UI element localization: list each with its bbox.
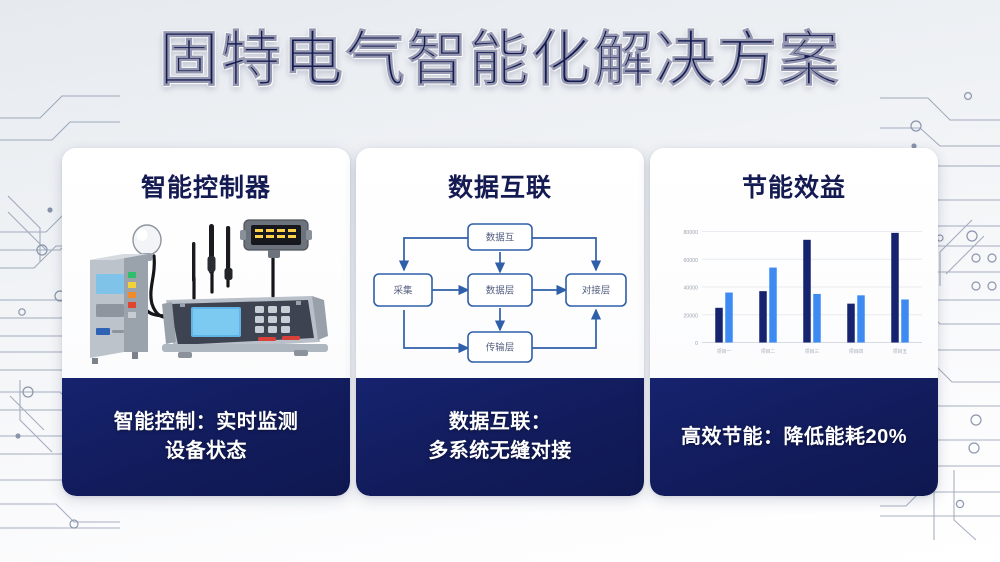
card-2-caption-line1: 数据互联： xyxy=(449,411,552,433)
card-intelligent-controller[interactable]: 智能控制器 xyxy=(62,148,350,496)
chart-bar xyxy=(857,295,865,342)
flow-node-bottom-label: 传输层 xyxy=(486,342,515,354)
data-flow-diagram: 数据互 采集 数据层 对接层 传输层 xyxy=(356,210,644,374)
card-1-caption: 智能控制：实时监测 设备状态 xyxy=(62,378,350,496)
chart-x-tick: 项目一 xyxy=(717,349,731,355)
card-data-interconnect[interactable]: 数据互联 xyxy=(356,148,644,496)
card-2-caption-text: 数据互联： 多系统无缝对接 xyxy=(428,408,572,466)
chart-y-tick: 60000 xyxy=(684,258,698,264)
card-3-caption-line1: 高效节能：降低能耗20% xyxy=(681,426,907,448)
chart-y-tick: 80000 xyxy=(684,230,698,236)
card-3-top: 节能效益 020000400006000080000项目一项目二项目三项目四项目… xyxy=(650,148,938,378)
card-3-title: 节能效益 xyxy=(742,168,846,204)
card-1-title: 智能控制器 xyxy=(141,168,271,204)
chart-y-tick: 40000 xyxy=(684,286,698,292)
card-1-caption-line2: 设备状态 xyxy=(114,437,299,466)
chart-x-tick: 项目四 xyxy=(849,349,863,355)
card-2-top: 数据互联 xyxy=(356,148,644,378)
card-1-caption-text: 智能控制：实时监测 设备状态 xyxy=(114,408,299,466)
chart-bar xyxy=(715,308,723,343)
chart-bar xyxy=(769,268,777,343)
card-2-title: 数据互联 xyxy=(448,168,552,204)
chart-bar xyxy=(803,240,811,343)
chart-x-tick: 项目三 xyxy=(805,349,819,355)
chart-x-tick: 项目二 xyxy=(761,349,775,355)
card-2-caption: 数据互联： 多系统无缝对接 xyxy=(356,378,644,496)
energy-bar-chart: 020000400006000080000项目一项目二项目三项目四项目五 xyxy=(664,214,928,372)
card-2-visual: 数据互 采集 数据层 对接层 传输层 xyxy=(356,210,644,374)
cards-row: 智能控制器 xyxy=(62,148,938,496)
flow-node-top-label: 数据互 xyxy=(486,232,515,244)
chart-y-tick: 0 xyxy=(695,341,698,347)
flow-node-right-label: 对接层 xyxy=(582,285,611,297)
card-1-visual xyxy=(62,210,350,374)
chart-bar xyxy=(901,299,909,342)
slide-title: 固特电气智能化解决方案 xyxy=(159,28,841,91)
flow-node-center-label: 数据层 xyxy=(486,285,515,297)
chart-bar xyxy=(847,304,855,343)
chart-bar xyxy=(891,233,899,343)
card-1-top: 智能控制器 xyxy=(62,148,350,378)
card-energy-saving[interactable]: 节能效益 020000400006000080000项目一项目二项目三项目四项目… xyxy=(650,148,938,496)
slide-title-wrap: 固特电气智能化解决方案 xyxy=(0,28,1000,91)
card-3-visual: 020000400006000080000项目一项目二项目三项目四项目五 xyxy=(664,214,928,372)
chart-x-tick: 项目五 xyxy=(893,349,907,355)
chart-bar xyxy=(813,294,821,343)
card-3-caption: 高效节能：降低能耗20% xyxy=(650,378,938,496)
card-2-caption-line2: 多系统无缝对接 xyxy=(428,437,572,466)
card-3-caption-text: 高效节能：降低能耗20% xyxy=(681,423,907,452)
slide-root: 固特电气智能化解决方案 智能控制器 xyxy=(0,0,1000,562)
industrial-controller-illustration xyxy=(62,210,350,374)
chart-y-tick: 20000 xyxy=(684,313,698,319)
flow-node-left-label: 采集 xyxy=(393,285,413,297)
card-1-caption-line1: 智能控制：实时监测 xyxy=(114,411,299,433)
chart-bar xyxy=(759,291,767,342)
chart-bar xyxy=(725,293,733,343)
